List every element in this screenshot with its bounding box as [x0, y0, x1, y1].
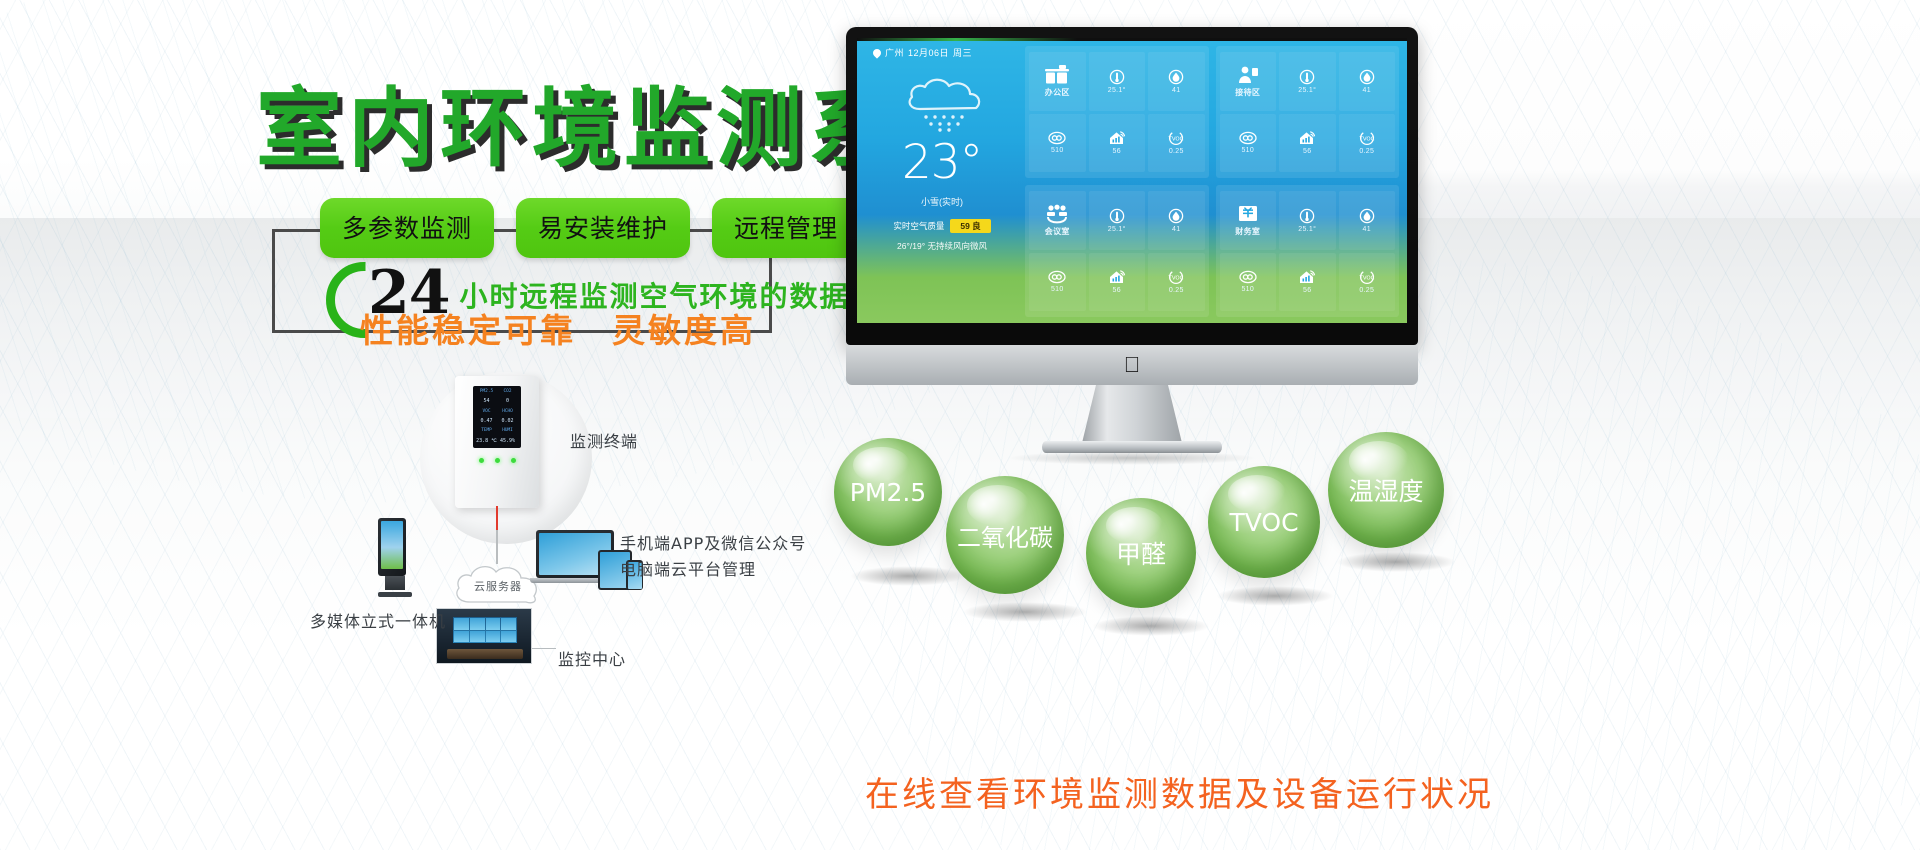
humidity-icon — [1168, 208, 1184, 224]
terminal-label-temp: TEMP — [476, 428, 497, 434]
metric-humidity: 41 — [1148, 191, 1205, 250]
tvoc-icon: TVOC — [1358, 269, 1376, 285]
metric-pm25: 56 — [1279, 114, 1336, 173]
metric-tvoc: TVOC 0.25 — [1339, 253, 1396, 312]
weather-date: 12月06日 — [908, 46, 949, 59]
metric-value: 0.25 — [1169, 287, 1184, 294]
feature-pill-remote-manage[interactable]: 远程管理 — [712, 198, 860, 258]
sphere-formaldehyde[interactable]: 甲醛 — [1086, 498, 1196, 608]
co2-icon — [1048, 131, 1066, 145]
metric-value: 510 — [1241, 286, 1254, 293]
room-card-grid: 办公区 25.1° 41 510 — [1025, 46, 1399, 317]
finance-icon — [1237, 204, 1259, 224]
metric-value: 25.1° — [1108, 226, 1126, 233]
room-name: 财务室 — [1235, 226, 1260, 237]
location-pin-icon — [871, 47, 882, 58]
weather-weekday: 周三 — [953, 46, 972, 59]
metric-value: 56 — [1303, 148, 1311, 155]
leader-line-control-room — [532, 648, 556, 649]
room-card[interactable]: 办公区 25.1° 41 510 — [1025, 46, 1209, 178]
room-name: 办公区 — [1045, 87, 1070, 98]
room-card[interactable]: 接待区 25.1° 41 510 — [1216, 46, 1400, 178]
room-header-cell: 办公区 — [1029, 52, 1086, 111]
sphere-shadow — [850, 566, 966, 586]
sphere-label: 甲醛 — [1116, 535, 1166, 571]
room-card[interactable]: 会议室 25.1° 41 510 — [1025, 185, 1209, 317]
terminal-label-pm25: PM2.5 — [476, 389, 497, 395]
svg-text:TVOC: TVOC — [1358, 276, 1374, 282]
terminal-label-co2: CO2 — [497, 389, 518, 395]
reception-icon — [1236, 65, 1260, 85]
terminal-value-hcho: 0.02 — [497, 418, 518, 425]
sphere-tvoc[interactable]: TVOC — [1208, 466, 1320, 578]
terminal-value-temp: 23.8 ℃ — [476, 438, 497, 445]
metric-value: 510 — [1051, 147, 1064, 154]
terminal-power-wire — [496, 506, 498, 532]
room-header-cell: 接待区 — [1220, 52, 1277, 111]
tvoc-icon: TVOC — [1167, 269, 1185, 285]
pm25-icon — [1108, 269, 1126, 285]
weather-temperature: 23° — [867, 139, 1017, 186]
svg-text:TVOC: TVOC — [1168, 137, 1184, 143]
metric-value: 56 — [1303, 287, 1311, 294]
led-indicator-icon — [495, 458, 500, 463]
thermometer-icon — [1299, 208, 1315, 224]
parameter-sphere-group: PM2.5 二氧化碳 甲醛 TVOC 温湿度 — [820, 420, 1480, 650]
metric-tvoc: TVOC 0.25 — [1339, 114, 1396, 173]
metric-temperature: 25.1° — [1279, 191, 1336, 250]
control-room-photo — [436, 608, 532, 664]
apple-logo-icon:  — [1124, 354, 1141, 376]
humidity-icon — [1168, 69, 1184, 85]
tvoc-icon: TVOC — [1358, 130, 1376, 146]
room-name: 会议室 — [1045, 226, 1070, 237]
weather-panel: 广州 12月06日 周三 — [867, 46, 1017, 314]
label-kiosk: 多媒体立式一体机 — [310, 608, 446, 632]
feature-pill-easy-install[interactable]: 易安装维护 — [516, 198, 690, 258]
co2-icon — [1239, 270, 1257, 284]
kiosk-body — [378, 518, 406, 576]
sphere-label: PM2.5 — [850, 478, 926, 507]
room-header-cell: 财务室 — [1220, 191, 1277, 250]
metric-co2: 510 — [1220, 253, 1277, 312]
humidity-icon — [1359, 208, 1375, 224]
metric-value: 0.25 — [1359, 148, 1374, 155]
metric-value: 510 — [1051, 286, 1064, 293]
terminal-screen: PM2.5 CO2 54 0 VOC HCHO 0.47 0.02 TEMP H… — [473, 386, 521, 448]
sphere-temp-humidity[interactable]: 温湿度 — [1328, 432, 1444, 548]
co2-icon — [1239, 131, 1257, 145]
control-room-desk — [447, 649, 523, 659]
pm25-icon — [1298, 130, 1316, 146]
terminal-label-humi: HUMI — [497, 428, 518, 434]
pm25-icon — [1108, 130, 1126, 146]
weather-city: 广州 — [885, 46, 904, 59]
metric-value: 56 — [1113, 287, 1121, 294]
aqi-label: 实时空气质量 — [893, 220, 944, 232]
metric-tvoc: TVOC 0.25 — [1148, 114, 1205, 173]
feature-pill-group: 多参数监测 易安装维护 远程管理 — [320, 198, 860, 258]
kiosk-screen — [381, 521, 403, 569]
led-indicator-icon — [479, 458, 484, 463]
monitoring-terminal-device: PM2.5 CO2 54 0 VOC HCHO 0.47 0.02 TEMP H… — [455, 376, 539, 508]
co2-icon — [1048, 270, 1066, 284]
sphere-label: TVOC — [1229, 508, 1298, 537]
screen-top-accent — [857, 38, 1407, 41]
metric-temperature: 25.1° — [1279, 52, 1336, 111]
snow-cloud-icon — [896, 75, 988, 133]
metric-humidity: 41 — [1148, 52, 1205, 111]
sphere-label: 二氧化碳 — [957, 518, 1053, 553]
metric-value: 25.1° — [1298, 87, 1316, 94]
desk-icon — [1044, 65, 1070, 85]
metric-temperature: 25.1° — [1089, 191, 1146, 250]
label-monitoring-terminal: 监测终端 — [570, 428, 638, 452]
bottom-cta-text: 在线查看环境监测数据及设备运行状况 — [865, 767, 1494, 816]
metric-pm25: 56 — [1089, 253, 1146, 312]
humidity-icon — [1359, 69, 1375, 85]
weather-condition: 小雪(实时) — [867, 195, 1017, 208]
metric-co2: 510 — [1029, 253, 1086, 312]
metric-value: 41 — [1172, 226, 1180, 233]
terminal-value-voc: 0.47 — [476, 418, 497, 425]
metric-value: 41 — [1172, 87, 1180, 94]
metric-tvoc: TVOC 0.25 — [1148, 253, 1205, 312]
meeting-icon — [1044, 204, 1070, 224]
svg-text:TVOC: TVOC — [1358, 137, 1374, 143]
weather-aqi-row: 实时空气质量 59 良 — [867, 219, 1017, 233]
weather-range: 26°/19° 无持续风向微风 — [867, 240, 1017, 252]
room-header-cell: 会议室 — [1029, 191, 1086, 250]
metric-value: 510 — [1241, 147, 1254, 154]
metric-value: 41 — [1363, 226, 1371, 233]
terminal-led-row — [473, 458, 521, 463]
svg-text:TVOC: TVOC — [1168, 276, 1184, 282]
sphere-label: 温湿度 — [1348, 472, 1423, 508]
label-devices-line1: 手机端APP及微信公众号 — [620, 530, 806, 554]
terminal-label-voc: VOC — [476, 409, 497, 415]
imac-bezel: 广州 12月06日 周三 — [846, 27, 1418, 345]
sphere-shadow — [1336, 552, 1456, 572]
metric-value: 25.1° — [1108, 87, 1126, 94]
terminal-value-pm25: 54 — [476, 398, 497, 405]
banner-root: 室内环境监测系统 多参数监测 易安装维护 远程管理 24 小时远程监测空气环境的… — [0, 0, 1920, 850]
metric-value: 0.25 — [1359, 287, 1374, 294]
imac-screen: 广州 12月06日 周三 — [857, 38, 1407, 323]
metric-value: 41 — [1363, 87, 1371, 94]
metric-value: 56 — [1113, 148, 1121, 155]
thermometer-icon — [1109, 69, 1125, 85]
network-diagram: PM2.5 CO2 54 0 VOC HCHO 0.47 0.02 TEMP H… — [300, 370, 860, 700]
tvoc-icon: TVOC — [1167, 130, 1185, 146]
room-name: 接待区 — [1235, 87, 1260, 98]
weather-location-row: 广州 12月06日 周三 — [873, 46, 1017, 59]
kiosk-device — [378, 518, 412, 598]
sphere-shadow — [962, 602, 1088, 622]
sphere-shadow — [1216, 586, 1334, 606]
hours-number: 24 — [368, 265, 450, 322]
metric-value: 25.1° — [1298, 226, 1316, 233]
metric-humidity: 41 — [1339, 191, 1396, 250]
metric-value: 0.25 — [1169, 148, 1184, 155]
metric-co2: 510 — [1029, 114, 1086, 173]
video-wall — [453, 617, 517, 643]
room-card[interactable]: 财务室 25.1° 41 510 — [1216, 185, 1400, 317]
imac-display: 广州 12月06日 周三 — [846, 27, 1418, 447]
label-devices-line2: 电脑端云平台管理 — [620, 556, 756, 580]
sphere-shadow — [1092, 616, 1210, 636]
imac-chin:  — [846, 345, 1418, 385]
terminal-value-co2: 0 — [497, 398, 518, 405]
metric-humidity: 41 — [1339, 52, 1396, 111]
label-control-room: 监控中心 — [558, 646, 626, 670]
metric-pm25: 56 — [1089, 114, 1146, 173]
sphere-pm25[interactable]: PM2.5 — [834, 438, 942, 546]
kiosk-base — [378, 592, 412, 597]
pm25-icon — [1298, 269, 1316, 285]
terminal-label-hcho: HCHO — [497, 409, 518, 415]
feature-pill-multi-param[interactable]: 多参数监测 — [320, 198, 494, 258]
led-indicator-icon — [511, 458, 516, 463]
metric-pm25: 56 — [1279, 253, 1336, 312]
metric-co2: 510 — [1220, 114, 1277, 173]
kiosk-stand-column — [385, 576, 405, 590]
thermometer-icon — [1299, 69, 1315, 85]
sphere-co2[interactable]: 二氧化碳 — [946, 476, 1064, 594]
metric-temperature: 25.1° — [1089, 52, 1146, 111]
thermometer-icon — [1109, 208, 1125, 224]
terminal-value-humi: 45.9% — [497, 438, 518, 445]
aqi-badge: 59 良 — [950, 219, 990, 233]
